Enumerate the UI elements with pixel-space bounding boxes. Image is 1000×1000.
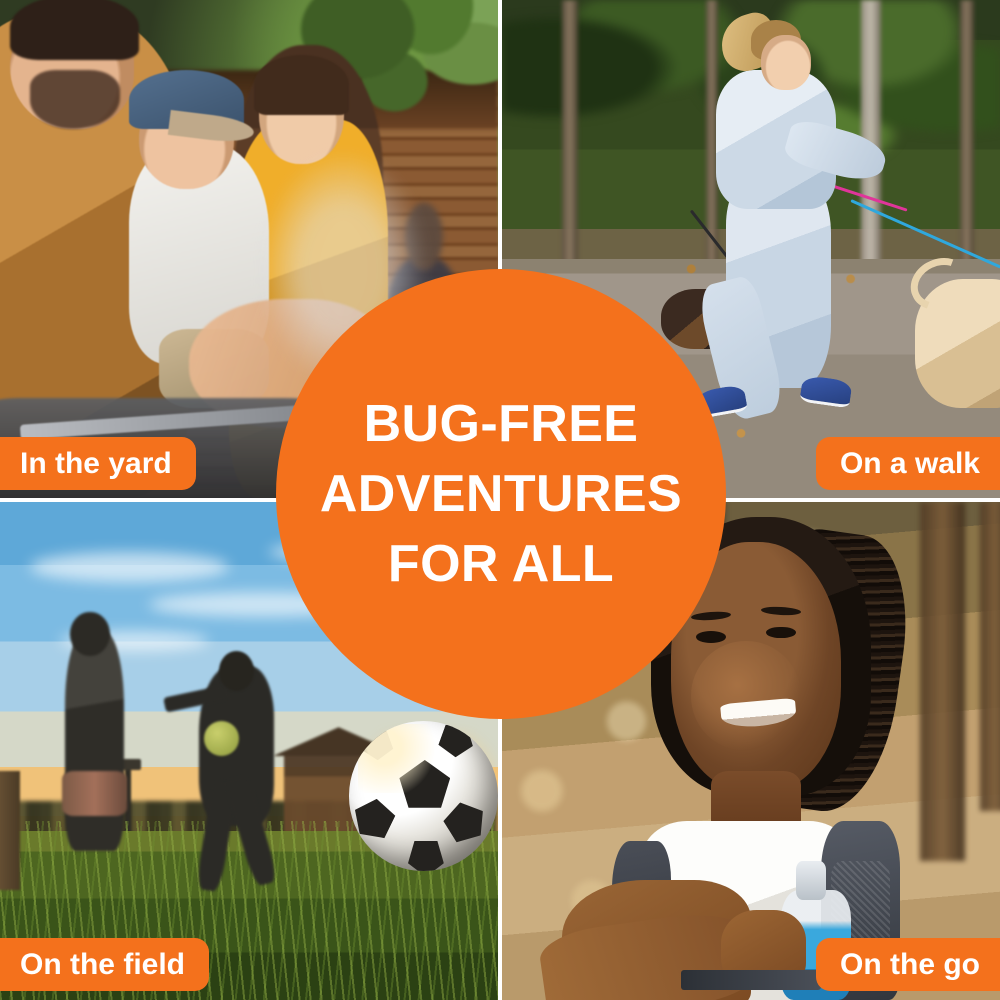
cloud bbox=[30, 552, 229, 582]
headline-text: BUG-FREE ADVENTURES FOR ALL bbox=[306, 389, 696, 599]
runner-cheek-highlight bbox=[691, 641, 801, 751]
soccer-ball-foreground bbox=[349, 721, 498, 870]
child-standing-silhouette bbox=[65, 631, 125, 850]
child-head bbox=[70, 612, 110, 657]
wooden-fencepost bbox=[0, 771, 20, 891]
flask-cap bbox=[796, 861, 826, 901]
caption-on-the-go: On the go bbox=[816, 938, 1000, 991]
ball-sun-flare bbox=[358, 724, 448, 793]
child-shorts bbox=[62, 771, 127, 816]
headline-badge: BUG-FREE ADVENTURES FOR ALL bbox=[276, 269, 726, 719]
father-hair bbox=[10, 0, 139, 60]
caption-in-the-yard: In the yard bbox=[0, 437, 196, 490]
ball-panel bbox=[408, 841, 444, 871]
tree-trunk bbox=[960, 0, 974, 269]
child-head bbox=[219, 651, 254, 691]
caption-on-the-field: On the field bbox=[0, 938, 209, 991]
vest-chest-strap bbox=[681, 970, 820, 990]
tree-trunk bbox=[861, 0, 881, 269]
caption-on-a-walk: On a walk bbox=[816, 437, 1000, 490]
walker-face bbox=[761, 35, 811, 90]
tree-trunk bbox=[562, 0, 578, 269]
tree-trunk bbox=[920, 502, 965, 861]
tree-trunk bbox=[980, 502, 1000, 811]
ball-in-play bbox=[204, 721, 239, 756]
mother-hair-fringe bbox=[254, 55, 349, 115]
collage-root: BUG-FREE ADVENTURES FOR ALL In the yard … bbox=[0, 0, 1000, 1000]
